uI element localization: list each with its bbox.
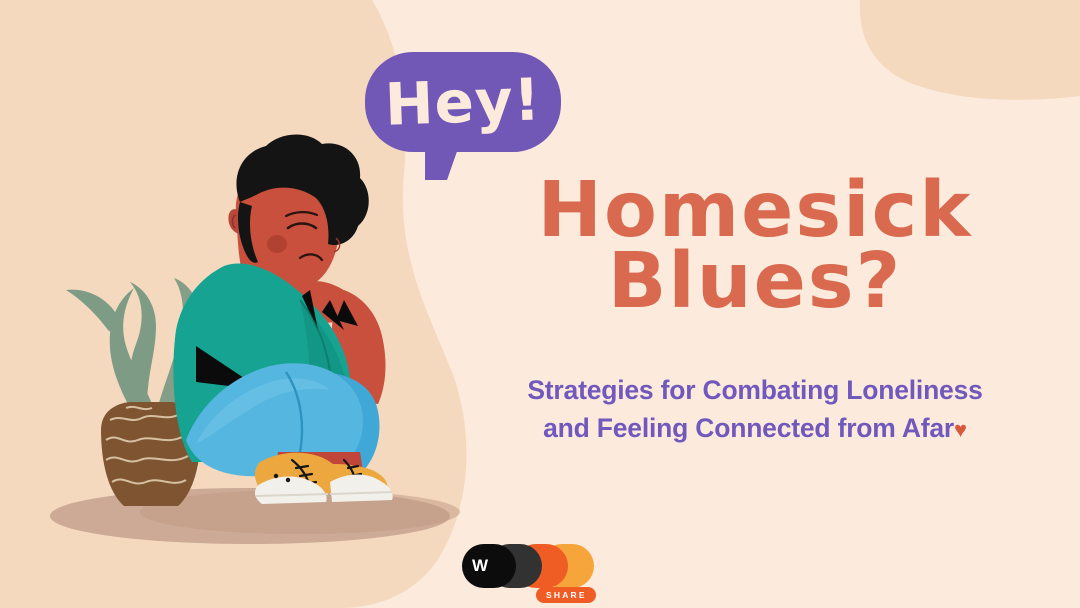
- page-subtitle-line1: Strategies for Combating Loneliness: [527, 375, 982, 405]
- page-title-line2: Blues?: [470, 247, 1040, 318]
- cheek-blush: [267, 235, 287, 253]
- heart-icon: ♥: [954, 417, 967, 442]
- shoe-dot-1: [274, 474, 278, 478]
- logo-letter-w: W: [472, 556, 488, 576]
- shoe-dot-2: [286, 478, 290, 482]
- page-subtitle-line2: and Feeling Connected from Afar: [543, 413, 954, 443]
- logo-tagline: SHARE: [536, 587, 596, 603]
- plant-leaf-4: [66, 290, 123, 340]
- seated-person: [173, 134, 392, 504]
- speech-bubble-text: Hey!: [363, 49, 562, 156]
- wedu-logo: U D E W SHARE: [462, 544, 614, 604]
- logo-pill-w: W: [462, 544, 516, 588]
- page-title: Homesick Blues?: [470, 176, 1040, 318]
- poster-canvas: Hey! Homesick Blues? Strategies for Comb…: [0, 0, 1080, 608]
- page-subtitle: Strategies for Combating Loneliness and …: [455, 372, 1055, 447]
